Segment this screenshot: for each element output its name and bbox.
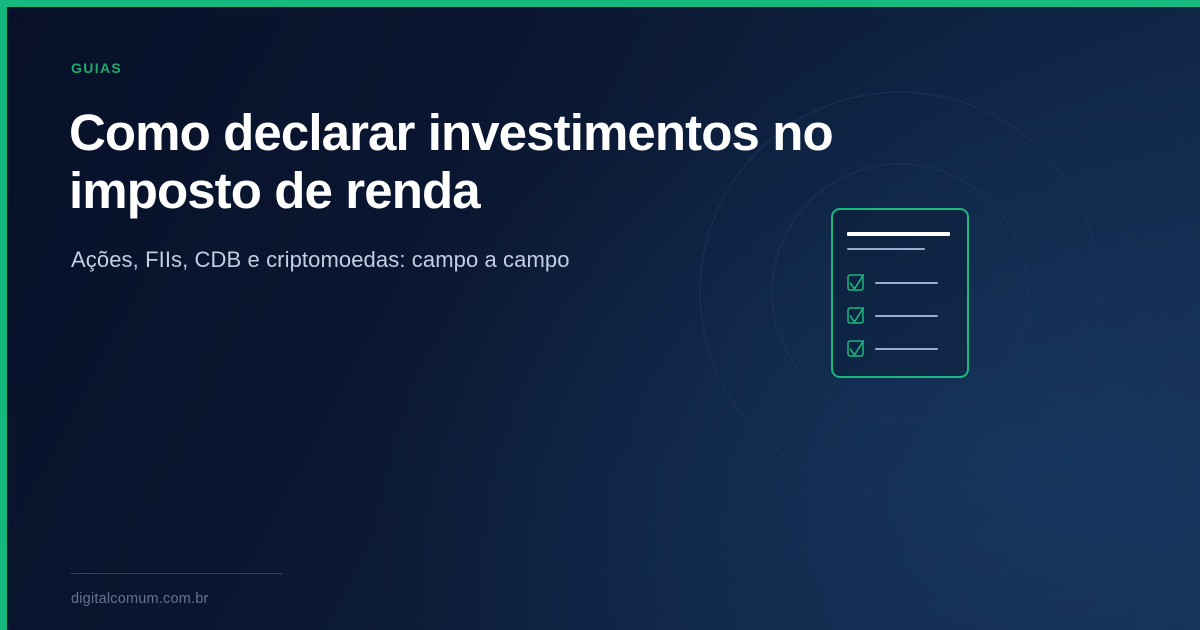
checklist-document-card [831, 208, 969, 378]
category-eyebrow: GUIAS [71, 61, 122, 75]
document-subtitle-line [847, 248, 925, 250]
document-title-line [847, 232, 950, 236]
top-accent-bar [0, 0, 1200, 7]
page-subtitle: Ações, FIIs, CDB e criptomoedas: campo a… [71, 245, 791, 275]
footer-divider [71, 573, 282, 574]
checklist-row-line-2 [875, 315, 938, 317]
site-domain: digitalcomum.com.br [71, 591, 209, 607]
checkbox-checked-icon [847, 307, 865, 325]
checklist-row-line-3 [875, 348, 938, 350]
checkbox-checked-icon [847, 340, 865, 358]
checkbox-checked-icon [847, 274, 865, 292]
left-accent-bar [0, 0, 7, 630]
social-card-canvas: GUIAS Como declarar investimentos no imp… [0, 0, 1200, 630]
checklist-row-line-1 [875, 282, 938, 284]
concentric-rings-decoration [0, 0, 1200, 630]
page-title: Como declarar investimentos no imposto d… [69, 104, 859, 220]
